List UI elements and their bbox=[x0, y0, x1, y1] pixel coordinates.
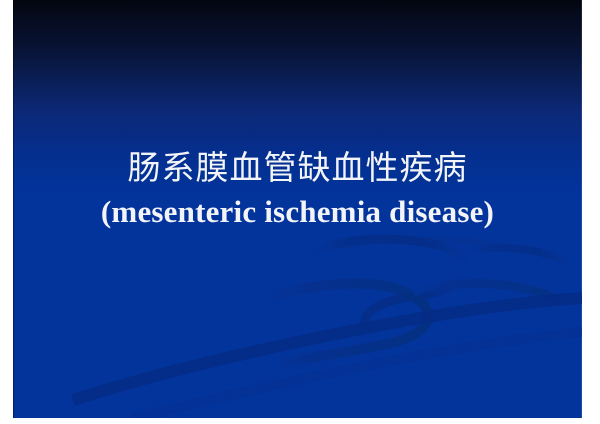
slide-subtitle-english: (mesenteric ischemia disease) bbox=[13, 192, 582, 232]
slide-title-block: 肠系膜血管缺血性疾病 (mesenteric ischemia disease) bbox=[13, 146, 582, 232]
presentation-slide: 肠系膜血管缺血性疾病 (mesenteric ischemia disease) bbox=[13, 0, 582, 418]
slide-title-chinese: 肠系膜血管缺血性疾病 bbox=[13, 146, 582, 190]
